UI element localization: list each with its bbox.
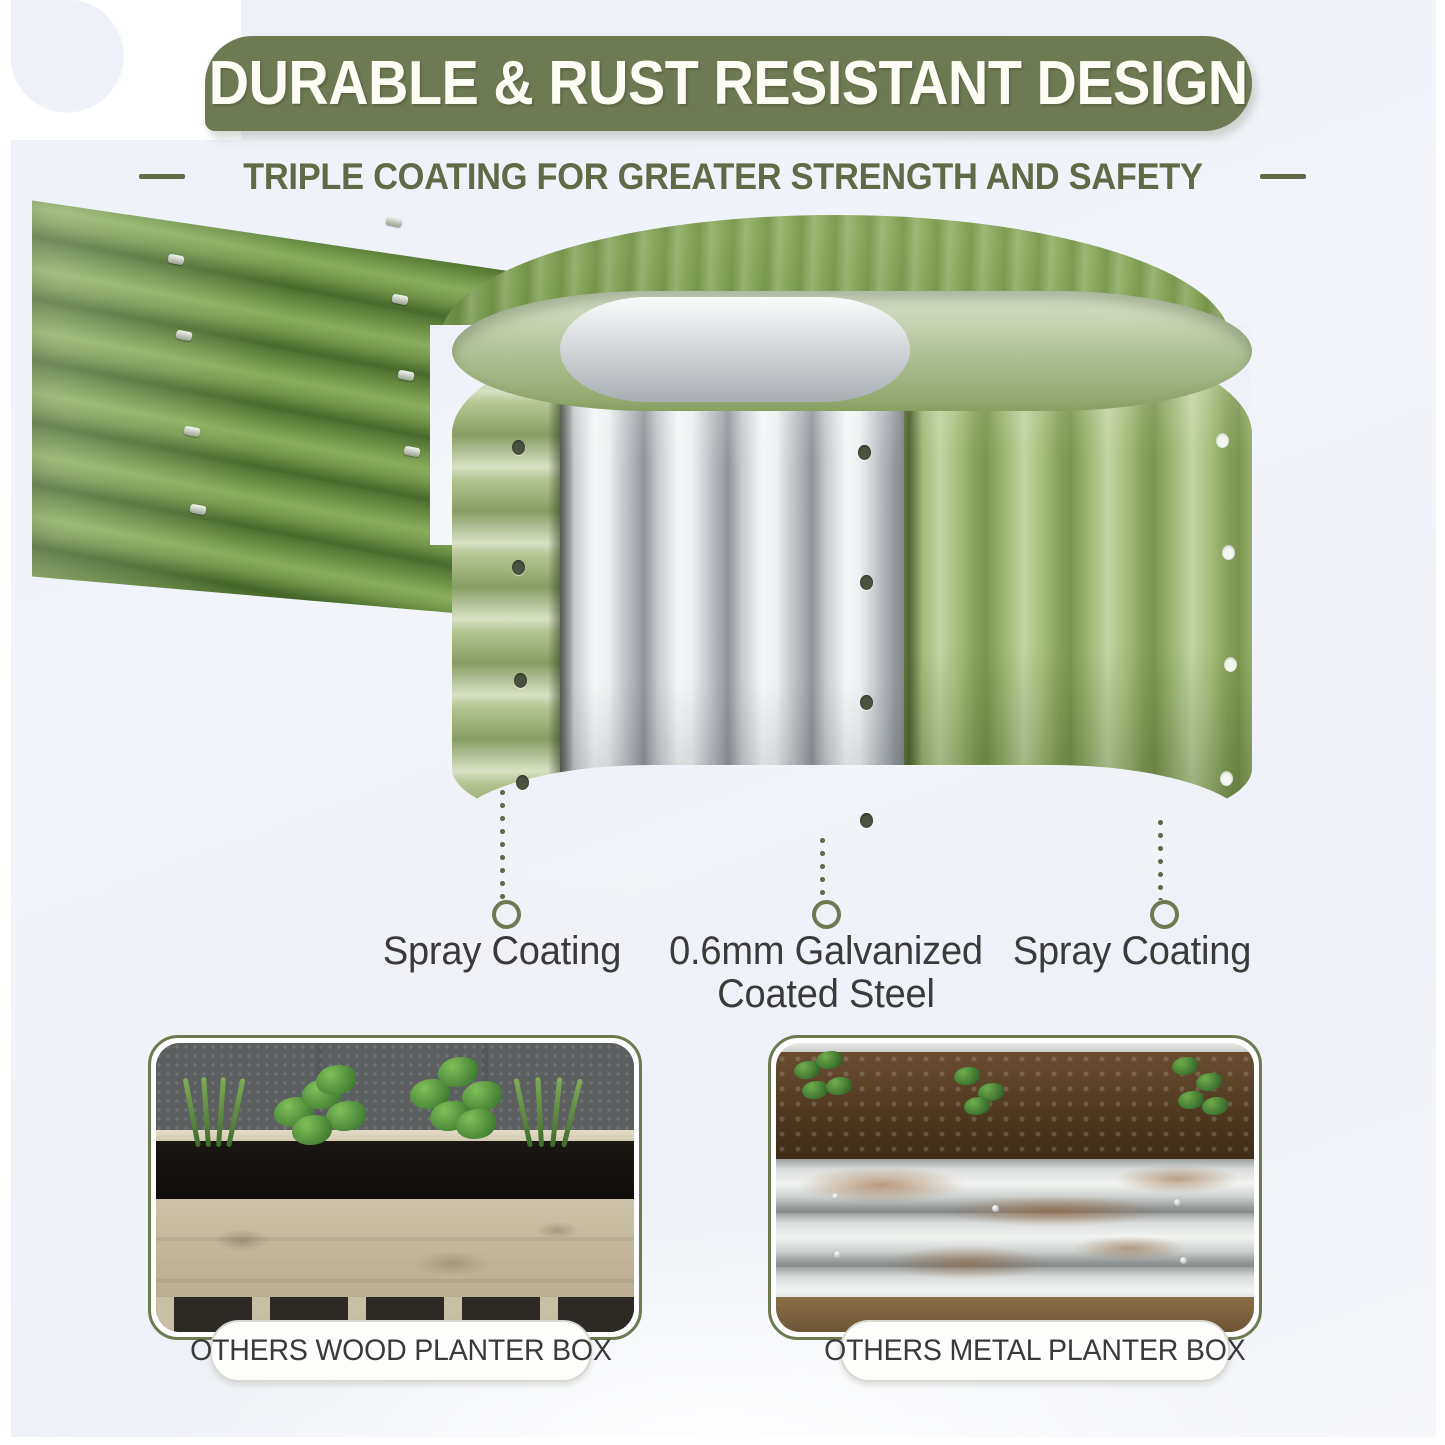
- caption-pill-metal: OTHERS METAL PLANTER BOX: [840, 1320, 1230, 1382]
- screw-hole: [514, 673, 527, 688]
- screw-hole: [860, 695, 873, 710]
- screw-hole: [516, 775, 529, 790]
- page-subtitle: TRIPLE COATING FOR GREATER STRENGTH AND …: [243, 158, 1203, 195]
- ring-marker-left: [492, 900, 521, 929]
- product-illustration: [0, 205, 1300, 885]
- page-title: DURABLE & RUST RESISTANT DESIGN: [209, 53, 1248, 115]
- basil-plant: [400, 1051, 508, 1147]
- screw-hole: [860, 575, 873, 590]
- leader-dots: [1158, 820, 1163, 900]
- leader-dots: [820, 838, 825, 900]
- tomato-plant: [952, 1061, 1012, 1117]
- callout-label-right: Spray Coating: [971, 930, 1294, 973]
- photo-soil: [156, 1141, 634, 1205]
- ring-marker-right: [1150, 900, 1179, 929]
- screw-hole: [1222, 545, 1235, 560]
- comparison-card-wood: [148, 1035, 642, 1340]
- leader-line-center: [820, 838, 825, 900]
- leader-line-left: [500, 790, 505, 900]
- leader-line-right: [1158, 820, 1163, 900]
- screw-hole: [858, 445, 871, 460]
- screw-hole: [860, 813, 873, 828]
- comparison-card-metal: [768, 1035, 1262, 1340]
- dash-left-decoration: [139, 174, 185, 179]
- wood-planter-photo: [156, 1043, 634, 1332]
- caption-text-wood: OTHERS WOOD PLANTER BOX: [190, 1336, 612, 1366]
- rosemary-plant: [192, 1069, 244, 1147]
- dash-right-decoration: [1260, 174, 1306, 179]
- caption-pill-wood: OTHERS WOOD PLANTER BOX: [210, 1320, 592, 1382]
- screw-hole: [1216, 433, 1229, 448]
- infographic-page: DURABLE & RUST RESISTANT DESIGN TRIPLE C…: [0, 0, 1445, 1445]
- callout-label-center: 0.6mm Galvanized Coated Steel: [649, 930, 1002, 1016]
- tomato-plant: [794, 1051, 854, 1107]
- screw-hole: [512, 560, 525, 575]
- rivet-icon: [1180, 1257, 1187, 1264]
- rosemary-plant: [524, 1069, 576, 1147]
- ring-marker-center: [812, 900, 841, 929]
- metal-planter-photo: [776, 1043, 1254, 1332]
- leader-dots: [500, 790, 505, 900]
- title-banner: DURABLE & RUST RESISTANT DESIGN: [205, 36, 1252, 131]
- screw-hole: [1220, 771, 1233, 786]
- callout-label-left: Spray Coating: [341, 930, 664, 973]
- photo-wood-front-panel: [156, 1199, 634, 1303]
- rivet-icon: [992, 1205, 999, 1212]
- caption-text-metal: OTHERS METAL PLANTER BOX: [824, 1336, 1245, 1366]
- bed-top-lip-silver: [560, 297, 910, 402]
- photo-rust-stains: [776, 1159, 1254, 1304]
- screw-hole: [512, 440, 525, 455]
- screw-icon: [385, 216, 402, 228]
- bed-bottom-edge-mask: [452, 765, 1252, 895]
- subtitle-row: TRIPLE COATING FOR GREATER STRENGTH AND …: [0, 148, 1445, 204]
- tomato-plant: [1168, 1053, 1228, 1109]
- screw-hole: [1224, 657, 1237, 672]
- basil-plant: [268, 1057, 376, 1153]
- rivet-icon: [1174, 1199, 1181, 1206]
